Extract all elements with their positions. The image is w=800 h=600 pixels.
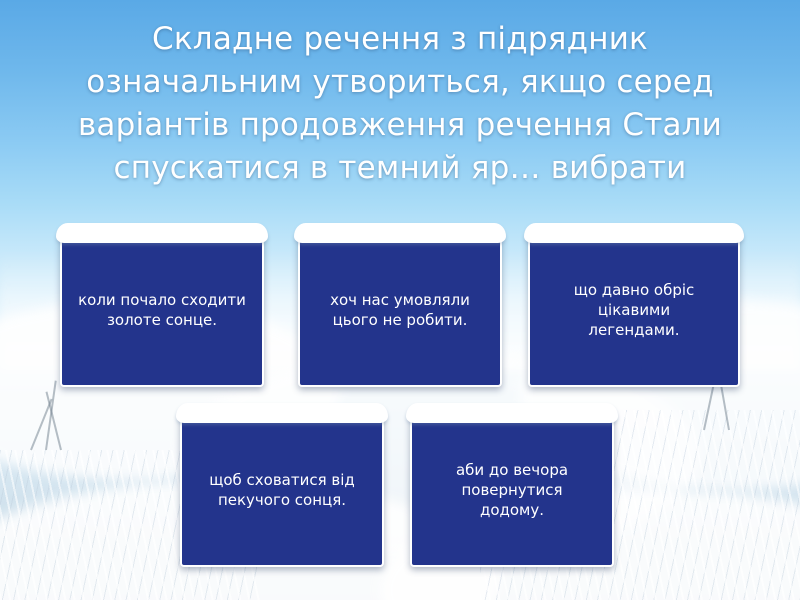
answer-card-3[interactable]: що давно обріс цікавими легендами. [528, 232, 740, 387]
answer-label: коли почало сходити золоте сонце. [78, 290, 246, 330]
slide-title: Складне речення з підрядник означальним … [40, 18, 760, 190]
answer-card-5[interactable]: аби до вечора повернутися додому. [410, 412, 614, 567]
answer-label: аби до вечора повернутися додому. [456, 460, 568, 520]
answer-card-1[interactable]: коли почало сходити золоте сонце. [60, 232, 264, 387]
answer-label: щоб сховатися від пекучого сонця. [209, 470, 355, 510]
answer-label: хоч нас умовляли цього не робити. [330, 290, 470, 330]
answer-label: що давно обріс цікавими легендами. [542, 280, 726, 340]
answer-card-2[interactable]: хоч нас умовляли цього не робити. [298, 232, 502, 387]
answer-card-4[interactable]: щоб сховатися від пекучого сонця. [180, 412, 384, 567]
quiz-slide: Складне речення з підрядник означальним … [0, 0, 800, 600]
